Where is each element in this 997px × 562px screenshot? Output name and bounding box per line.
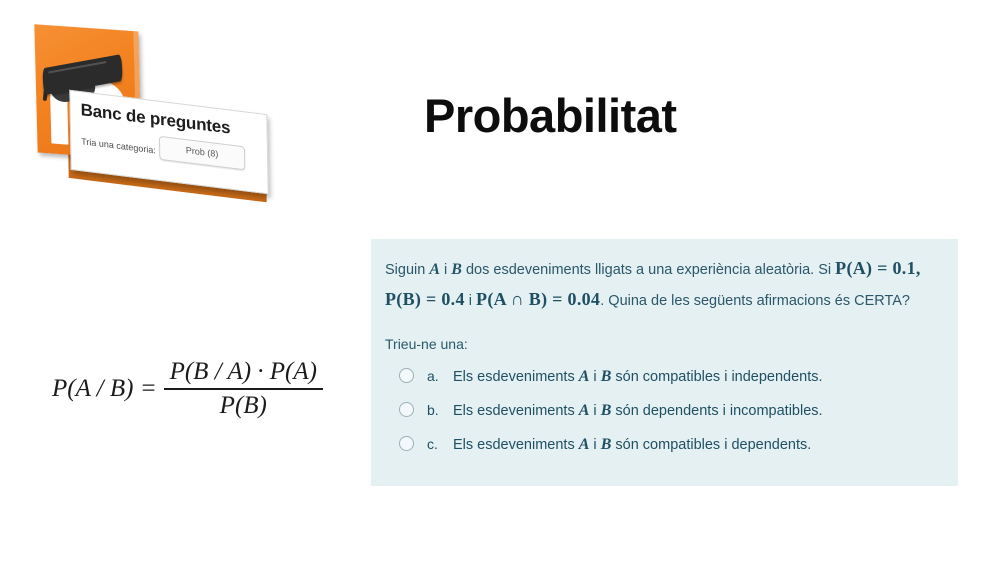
option-letter-c: c. (427, 436, 453, 452)
option-a-var-b: B (601, 368, 612, 385)
option-a-suffix: són compatibles i independents. (611, 369, 822, 385)
formula-numerator: P(B / A) · P(A) (164, 358, 323, 388)
option-a-mid: i (589, 369, 600, 385)
option-c-var-a: A (579, 436, 590, 453)
banner-category-label: Tria una categoria: (81, 136, 156, 155)
moodle-question-bank-graphic: Banc de preguntes Tria una categoria: Pr… (18, 18, 268, 203)
choose-one-label: Trieu-ne una: (385, 336, 940, 352)
option-b-suffix: són dependents i incompatibles. (611, 403, 822, 419)
category-select-value: Prob (8) (160, 142, 244, 162)
stem-text-3: . Quina de les següents afirmacions és C… (600, 293, 910, 309)
banner-title: Banc de preguntes (80, 100, 230, 138)
stem-variable-b: B (451, 261, 462, 278)
formula-left-side: P(A / B) (52, 375, 133, 403)
option-row-c[interactable]: c. Els esdeveniments A i B són compatibl… (385, 434, 940, 454)
formula-equals-sign: = (141, 375, 155, 403)
option-b-var-a: A (579, 402, 590, 419)
option-b-var-b: B (601, 402, 612, 419)
stem-variable-a: A (429, 261, 440, 278)
bayes-formula: P(A / B) = P(B / A) · P(A) P(B) (52, 358, 323, 420)
stem-text-conj-2: i (465, 293, 476, 309)
option-c-mid: i (589, 437, 600, 453)
option-letter-a: a. (427, 368, 453, 384)
option-c-var-b: B (601, 436, 612, 453)
option-text-a: Els esdeveniments A i B són compatibles … (453, 368, 823, 386)
question-box: Siguin A i B dos esdeveniments lligats a… (371, 239, 958, 486)
options-list: a. Els esdeveniments A i B són compatibl… (385, 366, 940, 454)
formula-fraction: P(B / A) · P(A) P(B) (164, 358, 323, 420)
question-stem: Siguin A i B dos esdeveniments lligats a… (385, 253, 940, 315)
option-row-b[interactable]: b. Els esdeveniments A i B són dependent… (385, 400, 940, 420)
option-b-prefix: Els esdeveniments (453, 403, 579, 419)
option-c-suffix: són compatibles i dependents. (611, 437, 811, 453)
page-title: Probabilitat (424, 88, 677, 143)
radio-button-b[interactable] (399, 402, 414, 417)
stem-text-conj-1: i (440, 262, 451, 278)
option-text-c: Els esdeveniments A i B són compatibles … (453, 436, 811, 454)
radio-button-a[interactable] (399, 368, 414, 383)
option-a-var-a: A (579, 368, 590, 385)
option-c-prefix: Els esdeveniments (453, 437, 579, 453)
stem-text-2: dos esdeveniments lligats a una experièn… (462, 262, 835, 278)
category-select[interactable]: Prob (8) (159, 136, 245, 171)
formula-denominator: P(B) (214, 390, 273, 420)
stem-text-1: Siguin (385, 262, 429, 278)
option-row-a[interactable]: a. Els esdeveniments A i B són compatibl… (385, 366, 940, 386)
option-text-b: Els esdeveniments A i B són dependents i… (453, 402, 823, 420)
option-a-prefix: Els esdeveniments (453, 369, 579, 385)
option-b-mid: i (589, 403, 600, 419)
option-letter-b: b. (427, 402, 453, 418)
radio-button-c[interactable] (399, 436, 414, 451)
stem-intersection-value: P(A ∩ B) = 0.04 (476, 289, 600, 309)
